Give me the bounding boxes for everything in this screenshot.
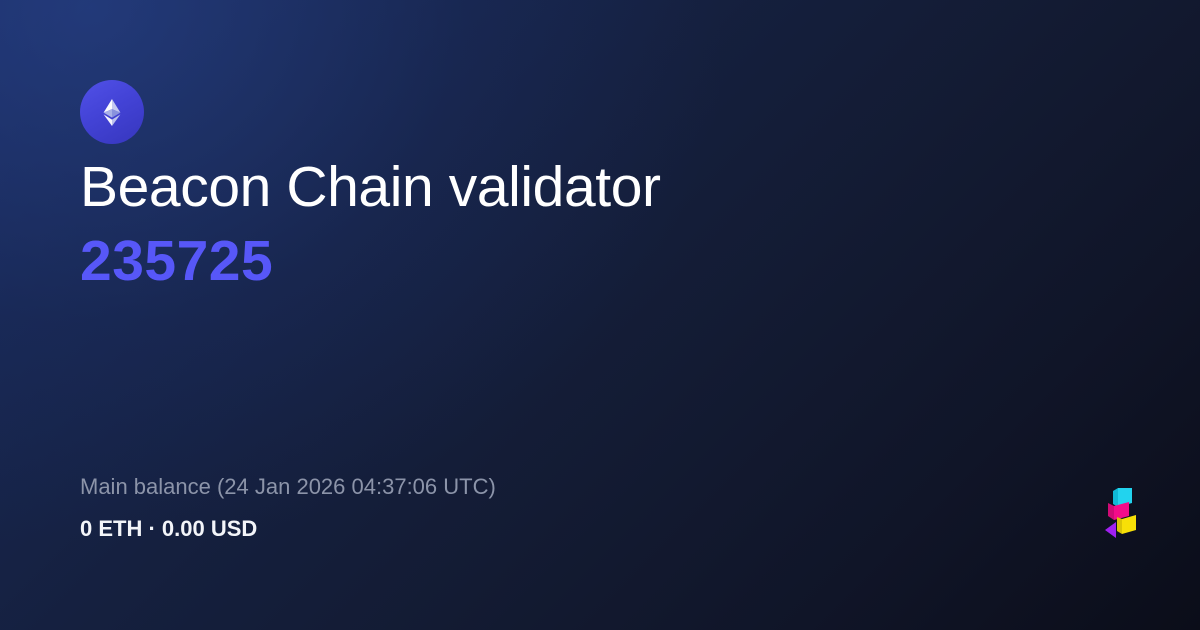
card-content: Beacon Chain validator 235725 Main balan… <box>80 0 1120 630</box>
beaconchain-blocks-logo-icon <box>1098 486 1142 548</box>
main-balance-block: Main balance (24 Jan 2026 04:37:06 UTC) … <box>80 470 980 544</box>
beaconchain-logo <box>1098 486 1142 548</box>
validator-title: Beacon Chain validator <box>80 150 1080 224</box>
main-balance-value: 0 ETH · 0.00 USD <box>80 514 980 544</box>
ethereum-diamond-icon <box>95 95 129 129</box>
validator-index: 235725 <box>80 224 1080 298</box>
main-balance-label: Main balance (24 Jan 2026 04:37:06 UTC) <box>80 470 980 504</box>
validator-og-card: Beacon Chain validator 235725 Main balan… <box>0 0 1200 630</box>
page-title: Beacon Chain validator 235725 <box>80 150 1080 298</box>
ethereum-avatar <box>80 80 144 144</box>
